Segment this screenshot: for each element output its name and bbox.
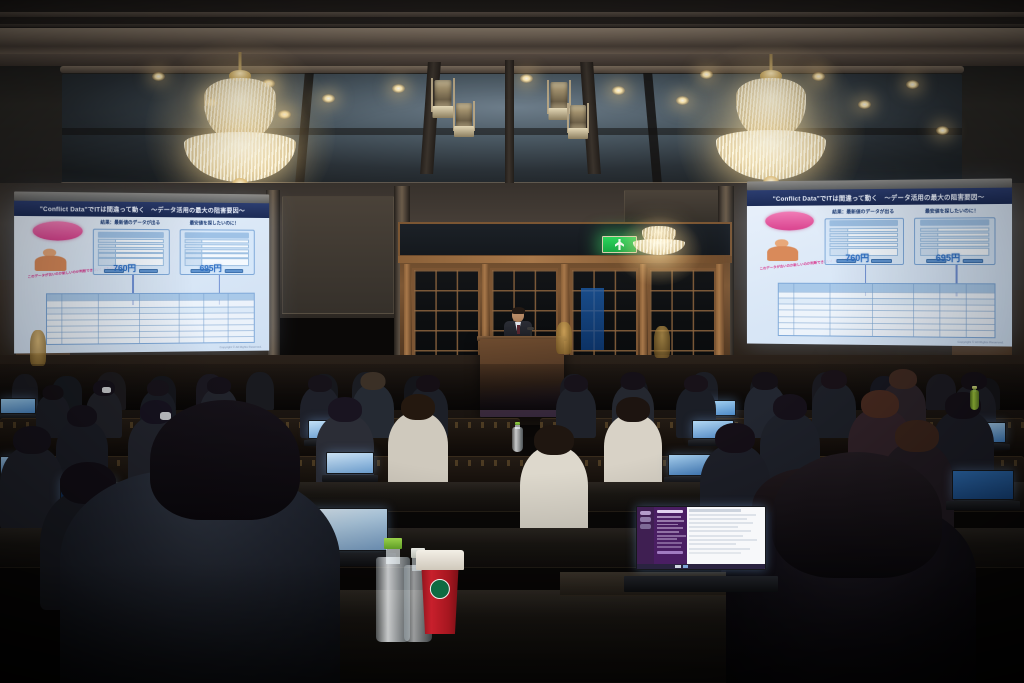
- audience-head: [821, 370, 847, 389]
- table-col-divider: [939, 285, 940, 337]
- presenter-hair: [512, 307, 525, 314]
- table-col-divider: [97, 294, 98, 344]
- chandelier-center-distant: [630, 224, 688, 260]
- wall-panel: [282, 196, 394, 314]
- audience-head: [534, 425, 574, 455]
- panel-button-confirm[interactable]: [139, 269, 158, 273]
- slack-message-line: [689, 539, 757, 541]
- slack-message-line: [689, 522, 753, 524]
- presenter-tie: [517, 325, 520, 334]
- left-panel-price: 760円: [845, 251, 869, 264]
- slack-channel: [657, 520, 684, 522]
- data-table: [778, 283, 996, 338]
- panel-button-confirm[interactable]: [872, 259, 892, 263]
- audience-head: [67, 405, 97, 427]
- ceiling-band: [0, 24, 1024, 27]
- slack-channel-active: [657, 551, 683, 553]
- form-row: [830, 243, 898, 248]
- conference-hall-photo: "Conflict Data"でITは間違って動く ～データ活用の最大の阻害要因…: [0, 0, 1024, 683]
- projection-screen-left: "Conflict Data"でITは間違って動く ～データ活用の最大の阻害要因…: [14, 191, 269, 354]
- slack-channel: [657, 516, 680, 518]
- slide-right: "Conflict Data"でITは間違って動く ～データ活用の最大の阻害要因…: [747, 188, 1012, 347]
- audience-head: [564, 375, 588, 392]
- audience-head: [308, 375, 332, 392]
- slack-message-line: [689, 535, 743, 537]
- audience-head: [616, 397, 650, 422]
- audience-person: [520, 446, 588, 534]
- chandelier-left: [178, 52, 302, 192]
- person-illustration-body: [35, 256, 66, 271]
- green-bottle[interactable]: [970, 386, 979, 410]
- left-panel-heading: 結果：最新値のデータが出る: [832, 208, 894, 215]
- table-col-divider: [139, 294, 140, 343]
- table-col-divider: [793, 284, 794, 335]
- recessed-light: [612, 86, 625, 95]
- recessed-light: [676, 96, 689, 105]
- taskbar-icon: [683, 565, 688, 567]
- door-blue-glow: [581, 288, 604, 350]
- slack-rail-icon: [640, 517, 652, 521]
- face-mask: [102, 387, 111, 393]
- laptop[interactable]: [952, 470, 1014, 510]
- laptop-foreground[interactable]: [636, 506, 766, 592]
- gold-sconce-right: [654, 326, 670, 358]
- laptop[interactable]: [0, 398, 36, 420]
- ceiling: [0, 0, 1024, 195]
- chandelier-right: [710, 54, 832, 192]
- slack-channel: [657, 527, 683, 529]
- ceiling-molding: [0, 28, 1024, 54]
- laptop-screen-slack: [636, 506, 766, 570]
- table-row: [779, 328, 995, 337]
- ceiling-band: [0, 12, 1024, 17]
- laptop-base: [322, 475, 379, 482]
- slide-footer: Copyright © All Rights Reserved.: [219, 345, 261, 349]
- slack-rail-icon: [640, 524, 652, 528]
- right-panel-price: 695円: [936, 251, 960, 264]
- screen-surface-left: "Conflict Data"でITは間違って動く ～データ活用の最大の阻害要因…: [14, 201, 269, 354]
- slack-message-line: [689, 552, 740, 554]
- speech-bubble: [765, 211, 814, 231]
- recessed-light: [152, 72, 165, 81]
- person-illustration-body: [767, 246, 798, 261]
- form-row: [185, 254, 249, 258]
- slack-message-line: [689, 514, 756, 516]
- lighting-truss: [505, 60, 514, 185]
- laptop-screen: [0, 398, 36, 414]
- audience-head: [752, 372, 778, 390]
- speech-bubble: [33, 222, 83, 241]
- table-col-divider: [178, 293, 179, 342]
- table-col-divider: [913, 284, 914, 335]
- table-col-divider: [62, 294, 63, 344]
- slack-channel: [657, 535, 685, 537]
- right-panel-heading: 最安値を探したいのに！: [190, 220, 239, 226]
- panel-caption: [920, 220, 990, 226]
- exit-running-figure-icon: [615, 239, 624, 250]
- taskbar: [637, 564, 765, 568]
- par-light-2: [452, 96, 476, 144]
- left-panel-heading: 結果：最新値のデータが出る: [100, 219, 160, 225]
- audience-head: [889, 369, 917, 389]
- slack-channel: [657, 542, 681, 544]
- audience-head: [621, 372, 646, 390]
- form-row: [830, 238, 898, 243]
- panel-caption: [98, 232, 164, 238]
- recessed-light: [858, 100, 871, 109]
- table-row: [47, 336, 254, 344]
- laptop[interactable]: [326, 452, 374, 482]
- slack-rail-icon: [640, 511, 652, 515]
- laptop-base: [624, 576, 777, 592]
- panel-button-confirm[interactable]: [963, 259, 984, 263]
- audience-person: [388, 412, 448, 486]
- audience-head: [13, 426, 51, 454]
- starbucks-cup[interactable]: [418, 550, 462, 634]
- audience-head: [328, 397, 362, 422]
- slack-workspace-name: [657, 510, 683, 513]
- slack-message-line: [689, 543, 735, 545]
- audience-head: [401, 394, 435, 420]
- gold-sconce-center: [556, 322, 572, 354]
- table-col-divider: [872, 284, 873, 335]
- slack-message-pane: [687, 507, 765, 569]
- slack-channel: [657, 546, 680, 548]
- audience-head: [773, 394, 807, 420]
- par-light-4: [566, 98, 590, 146]
- taskbar-icon: [675, 565, 680, 567]
- recessed-light: [936, 126, 949, 135]
- audience-head: [684, 375, 708, 392]
- slack-channel: [657, 524, 677, 526]
- table-col-divider: [966, 285, 967, 337]
- audience-head: [416, 375, 440, 392]
- slack-channel: [657, 531, 679, 533]
- audience-person: [604, 414, 662, 486]
- laptop-screen: [952, 470, 1014, 500]
- left-panel-price: 760円: [113, 261, 136, 273]
- screen-surface-right: "Conflict Data"でITは間違って動く ～データ活用の最大の阻害要因…: [747, 188, 1012, 347]
- laptop-screen: [326, 452, 374, 474]
- foreground-head-silhouette-right: [772, 452, 942, 578]
- audience-head: [861, 390, 899, 418]
- audience-head: [207, 377, 231, 394]
- audience-head: [895, 420, 939, 452]
- laptop-base: [946, 501, 1019, 510]
- audience-head: [715, 423, 755, 453]
- starbucks-cup-lid: [416, 550, 464, 570]
- slack-message-line: [689, 509, 740, 511]
- wall-panel: [624, 190, 728, 224]
- table-col-divider: [829, 284, 830, 335]
- recessed-light: [520, 74, 533, 83]
- microphone-head: [527, 327, 534, 330]
- table-col-divider: [227, 293, 228, 342]
- slack-message-line: [689, 548, 749, 550]
- audience-head: [147, 380, 169, 396]
- form-row: [98, 253, 164, 258]
- audience-head: [361, 372, 386, 390]
- recessed-light: [322, 94, 335, 103]
- slide-left: "Conflict Data"でITは間違って動く ～データ活用の最大の阻害要因…: [14, 201, 269, 354]
- panel-caption: [830, 220, 898, 226]
- water-bottle[interactable]: [512, 422, 523, 452]
- panel-caption: [185, 232, 249, 238]
- right-panel-heading: 最安値を探したいのに！: [925, 207, 979, 214]
- recessed-light: [906, 80, 919, 89]
- projection-screen-right: "Conflict Data"でITは間違って動く ～データ活用の最大の阻害要因…: [747, 178, 1012, 347]
- slack-message-line: [689, 518, 747, 520]
- slide-footer: Copyright © All Rights Reserved.: [958, 340, 1004, 345]
- audience-head: [43, 385, 64, 400]
- slack-rail: [637, 507, 654, 569]
- slide-body: 結果：最新値のデータが出る 最安値を探したいのに！ このデータが古いのか新しいの…: [14, 216, 269, 354]
- slack-message-line: [689, 526, 738, 528]
- slack-message-line: [689, 530, 750, 532]
- slide-body: 結果：最新値のデータが出る 最安値を探したいのに！ このデータが古いのか新しいの…: [747, 204, 1012, 347]
- right-panel-price: 695円: [200, 262, 222, 274]
- recessed-light: [392, 84, 405, 93]
- panel-button-confirm[interactable]: [224, 269, 243, 273]
- form-row: [920, 237, 990, 242]
- table-col-divider: [203, 293, 204, 342]
- slack-channel: [657, 538, 676, 540]
- foreground-head-silhouette-left: [150, 400, 300, 520]
- form-row: [920, 242, 990, 247]
- data-table: [46, 292, 255, 345]
